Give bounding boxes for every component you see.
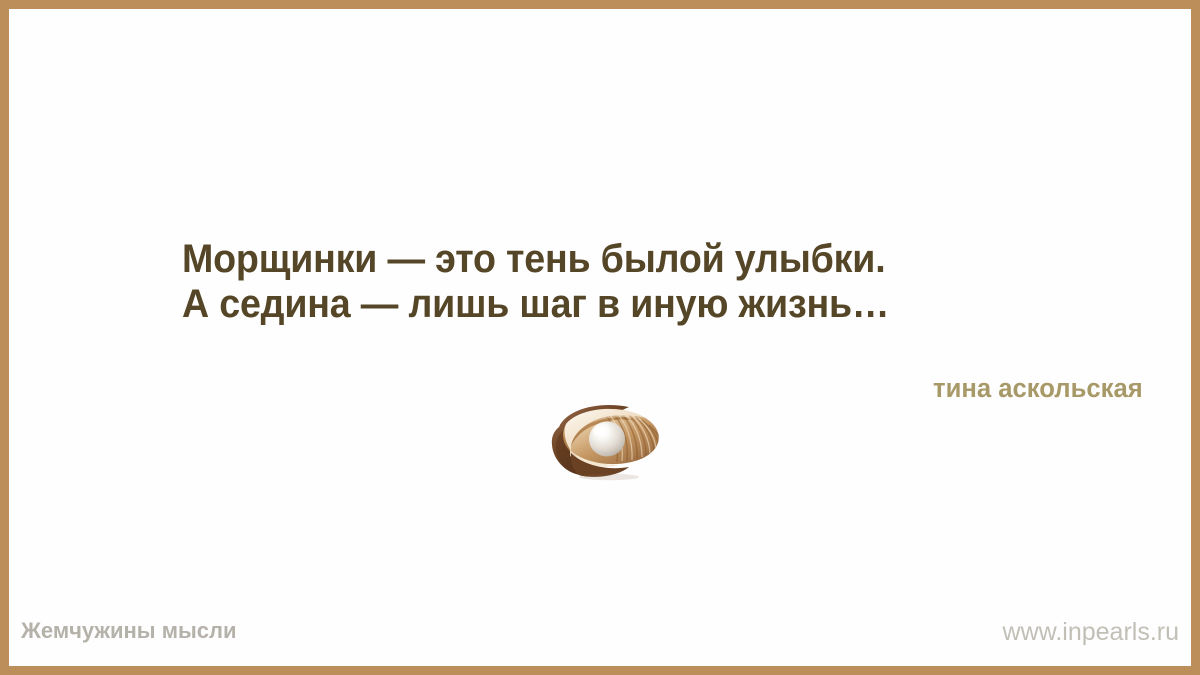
footer-site-url[interactable]: www.inpearls.ru [1003,618,1179,646]
footer-site-name: Жемчужины мысли [21,618,237,644]
quote-line-2: А седина — лишь шаг в иную жизнь… [182,282,1009,327]
quote-author: тина аскольская [933,372,1143,404]
quote-line-1: Морщинки — это тень былой улыбки. [182,237,1009,282]
quote-poster: Морщинки — это тень былой улыбки. А седи… [0,0,1200,675]
quote-text: Морщинки — это тень былой улыбки. А седи… [182,237,1062,327]
oyster-shell-with-pearl-icon [537,393,681,481]
